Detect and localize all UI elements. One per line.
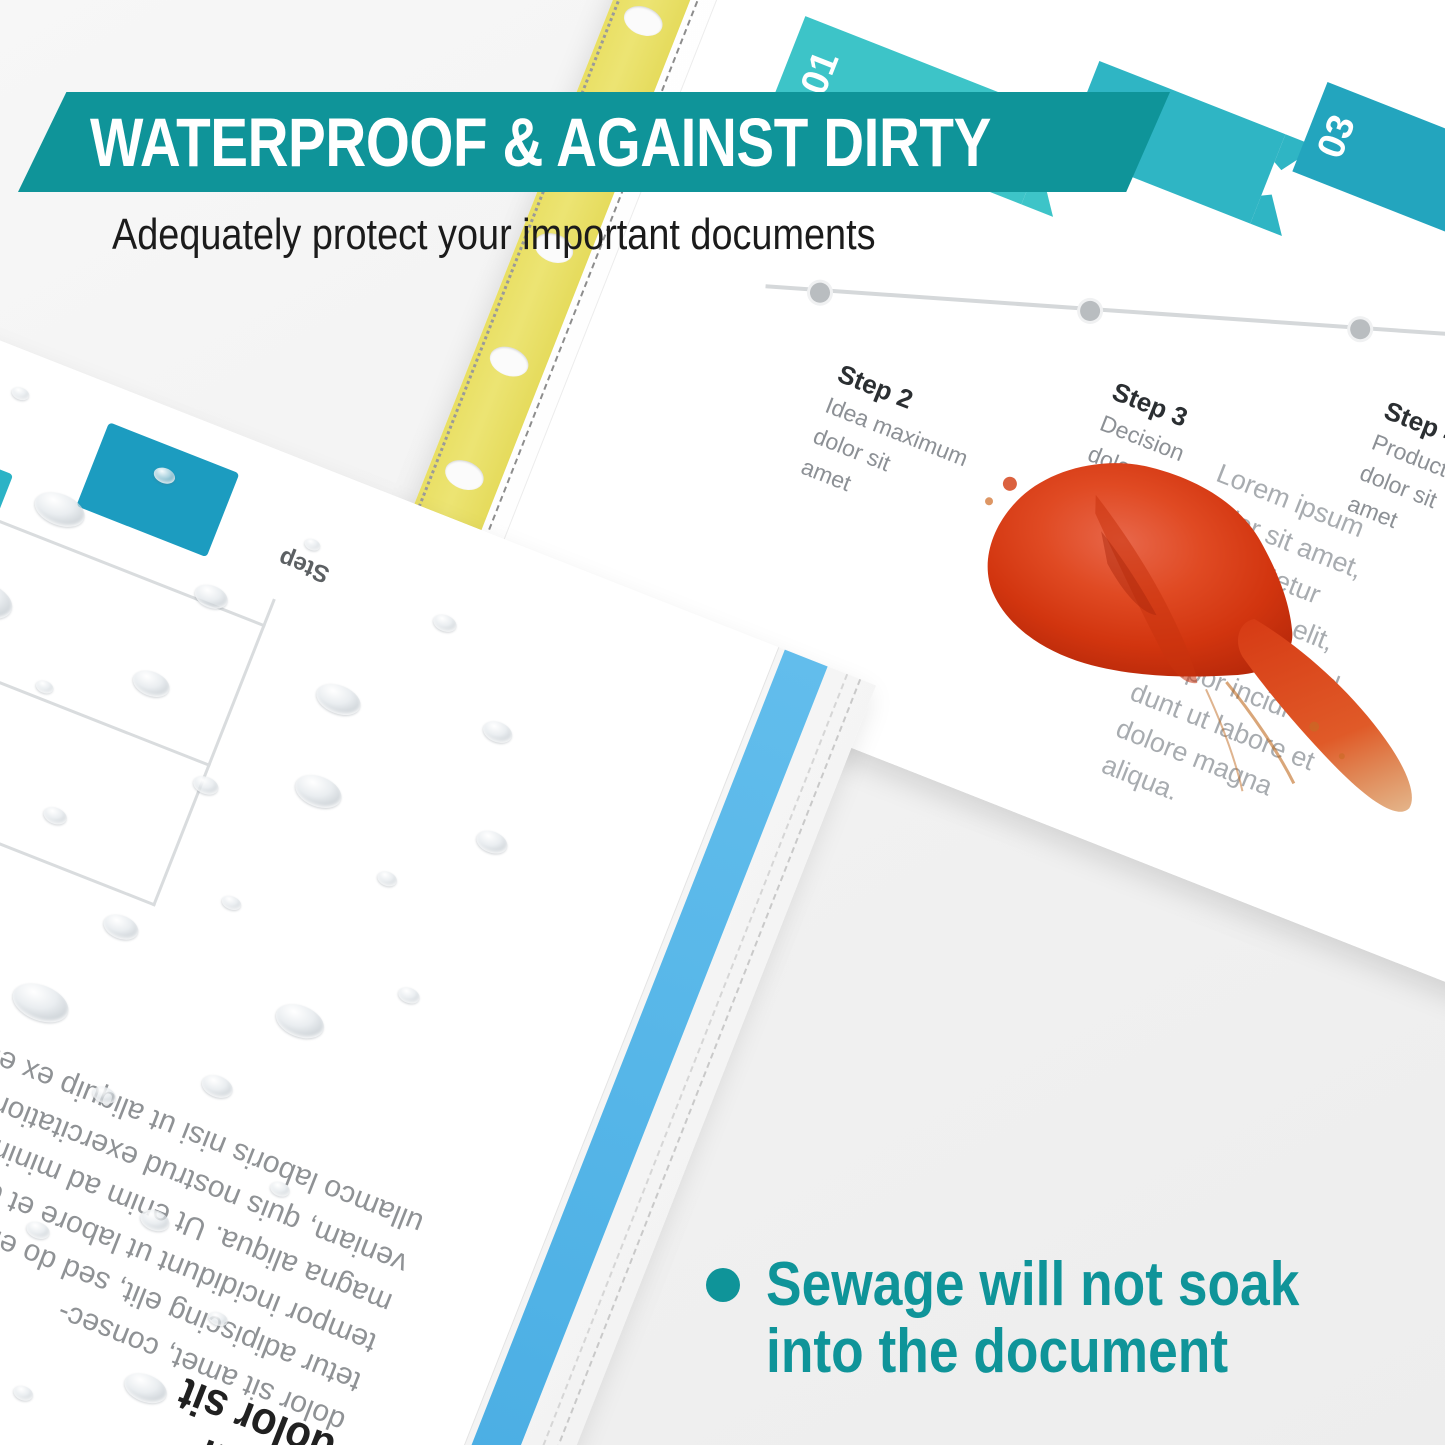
- bullet-icon: [706, 1268, 740, 1302]
- product-image-canvas: 01 02 03 04 05: [0, 0, 1445, 1445]
- callout-line-1: Sewage will not soak: [766, 1250, 1299, 1319]
- chart-connector: [0, 515, 266, 628]
- left-document-body-text: dolor sit amet, consec- tetur adipiscing…: [0, 999, 430, 1442]
- timeline-node-2: [1073, 294, 1107, 328]
- header-subtitle: Adequately protect your important docume…: [112, 210, 895, 260]
- callout-text: Sewage will not soak into the document: [766, 1252, 1299, 1386]
- timeline-line: [765, 284, 1445, 369]
- callout-line-2: into the document: [766, 1319, 1299, 1386]
- bar-number-03: 03: [1309, 109, 1365, 164]
- chart-connector: [0, 794, 156, 907]
- chart-bar-c: ★: [0, 420, 13, 562]
- chart-step-label: Step: [275, 543, 334, 588]
- feature-callout: Sewage will not soak into the document: [706, 1252, 1406, 1386]
- timeline-node-1: [803, 276, 837, 310]
- chart-connector: [0, 654, 211, 767]
- chart-connector: [152, 598, 276, 906]
- chart-bar-d: [76, 422, 239, 557]
- header-banner: WATERPROOF & AGAINST DIRTY: [18, 92, 1170, 192]
- left-document-chart: ★ Step: [0, 335, 342, 978]
- infographic-bar-03: 03: [1292, 82, 1445, 239]
- timeline-node-3: [1343, 312, 1377, 346]
- banner-title: WATERPROOF & AGAINST DIRTY: [90, 108, 991, 177]
